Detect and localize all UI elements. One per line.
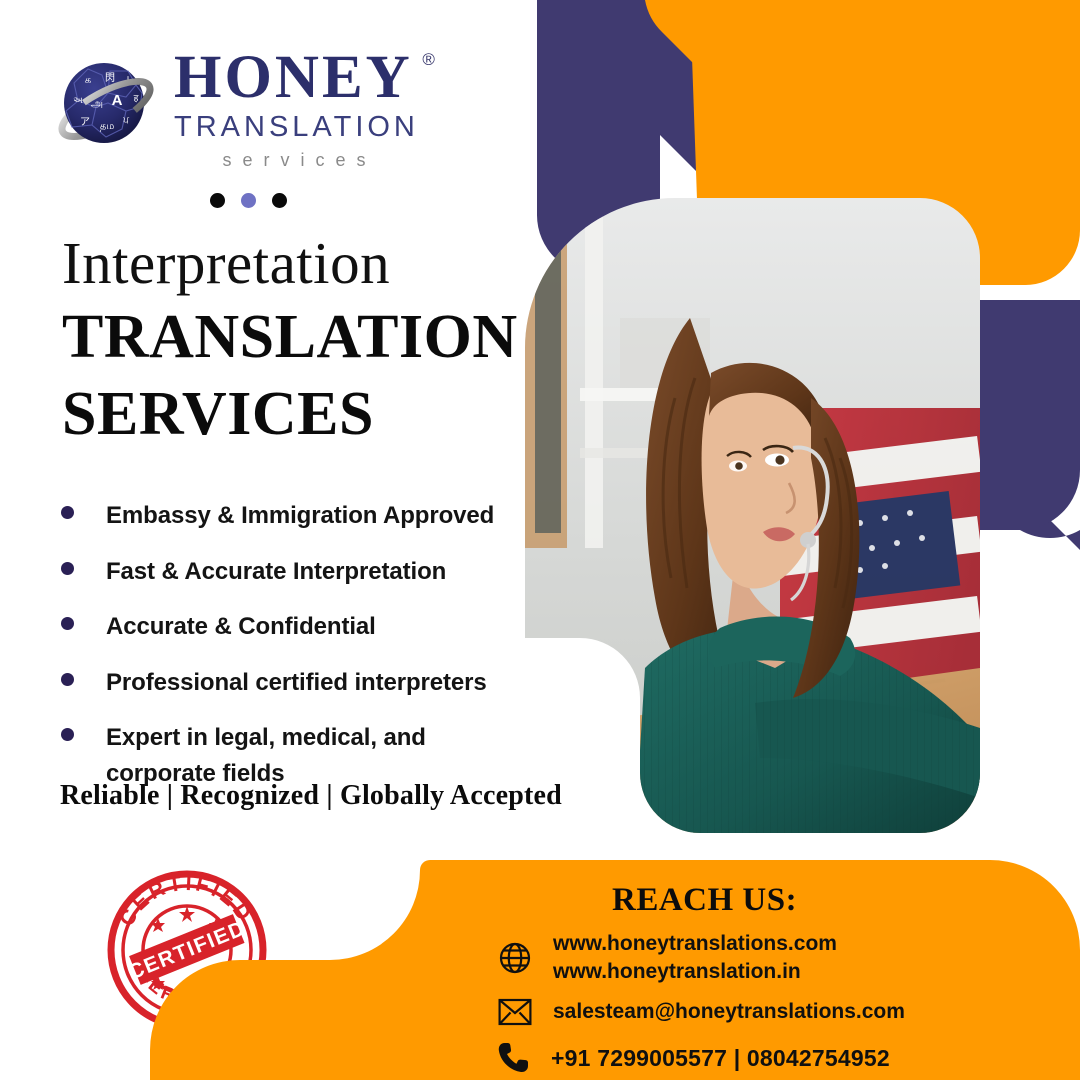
svg-text:தம: தம bbox=[100, 121, 115, 132]
dot-2-icon bbox=[241, 193, 256, 208]
email-row[interactable]: salesteam@honeytranslations.com bbox=[495, 992, 905, 1032]
bullet-dot-icon bbox=[61, 562, 74, 575]
headline-bold-1: TRANSLATION bbox=[62, 303, 532, 372]
headline-bold-2: SERVICES bbox=[62, 380, 532, 449]
dot-separator bbox=[210, 193, 472, 208]
dot-3-icon bbox=[272, 193, 287, 208]
svg-text:閃: 閃 bbox=[105, 72, 115, 84]
svg-text:ह: ह bbox=[134, 93, 139, 103]
list-item: Embassy & Immigration Approved bbox=[55, 498, 555, 534]
headline-script: Interpretation bbox=[62, 233, 532, 295]
website-row[interactable]: www.honeytranslations.com www.honeytrans… bbox=[495, 930, 837, 985]
svg-text:અ: અ bbox=[73, 95, 83, 105]
bullet-dot-icon bbox=[61, 617, 74, 630]
list-item: Fast & Accurate Interpretation bbox=[55, 554, 555, 590]
website-2[interactable]: www.honeytranslation.in bbox=[553, 960, 801, 983]
page-title: Interpretation TRANSLATION SERVICES bbox=[62, 233, 532, 450]
feature-list: Embassy & Immigration Approved Fast & Ac… bbox=[55, 498, 555, 811]
brand-logo: க 閃 ا અ அ A ह ア தம ਪ HONEY ® TRANSLATION… bbox=[52, 44, 472, 208]
bullet-dot-icon bbox=[61, 506, 74, 519]
phone-numbers[interactable]: +91 7299005577 | 08042754952 bbox=[551, 1043, 890, 1073]
feature-label: Professional certified interpreters bbox=[106, 665, 487, 701]
trust-tagline: Reliable | Recognized | Globally Accepte… bbox=[60, 780, 562, 812]
svg-text:ア: ア bbox=[80, 117, 90, 128]
registered-mark-icon: ® bbox=[422, 50, 435, 70]
svg-text:க: க bbox=[85, 75, 91, 86]
feature-label: Accurate & Confidential bbox=[106, 609, 376, 645]
logo-name-sub: TRANSLATION bbox=[174, 110, 419, 145]
globe-icon: க 閃 ا અ அ A ह ア தம ਪ bbox=[52, 53, 160, 161]
email-address[interactable]: salesteam@honeytranslations.com bbox=[553, 998, 905, 1026]
envelope-icon bbox=[495, 992, 535, 1032]
svg-text:A: A bbox=[112, 92, 123, 109]
website-1[interactable]: www.honeytranslations.com bbox=[553, 932, 837, 955]
feature-label: Fast & Accurate Interpretation bbox=[106, 554, 446, 590]
phone-row[interactable]: +91 7299005577 | 08042754952 bbox=[493, 1038, 890, 1078]
feature-label: Embassy & Immigration Approved bbox=[106, 498, 494, 534]
list-item: Accurate & Confidential bbox=[55, 609, 555, 645]
list-item: Professional certified interpreters bbox=[55, 665, 555, 701]
logo-name-tagline: services bbox=[174, 150, 419, 171]
hero-photo bbox=[525, 198, 980, 833]
contact-title: REACH US: bbox=[612, 882, 797, 919]
svg-text:ਪ: ਪ bbox=[122, 115, 129, 125]
bullet-dot-icon bbox=[61, 728, 74, 741]
contact-panel: REACH US: www.honeytranslations.com www.… bbox=[0, 860, 1080, 1080]
bullet-dot-icon bbox=[61, 673, 74, 686]
logo-name-main: HONEY bbox=[174, 48, 419, 108]
globe-icon bbox=[495, 938, 535, 978]
phone-icon bbox=[493, 1038, 533, 1078]
dot-1-icon bbox=[210, 193, 225, 208]
